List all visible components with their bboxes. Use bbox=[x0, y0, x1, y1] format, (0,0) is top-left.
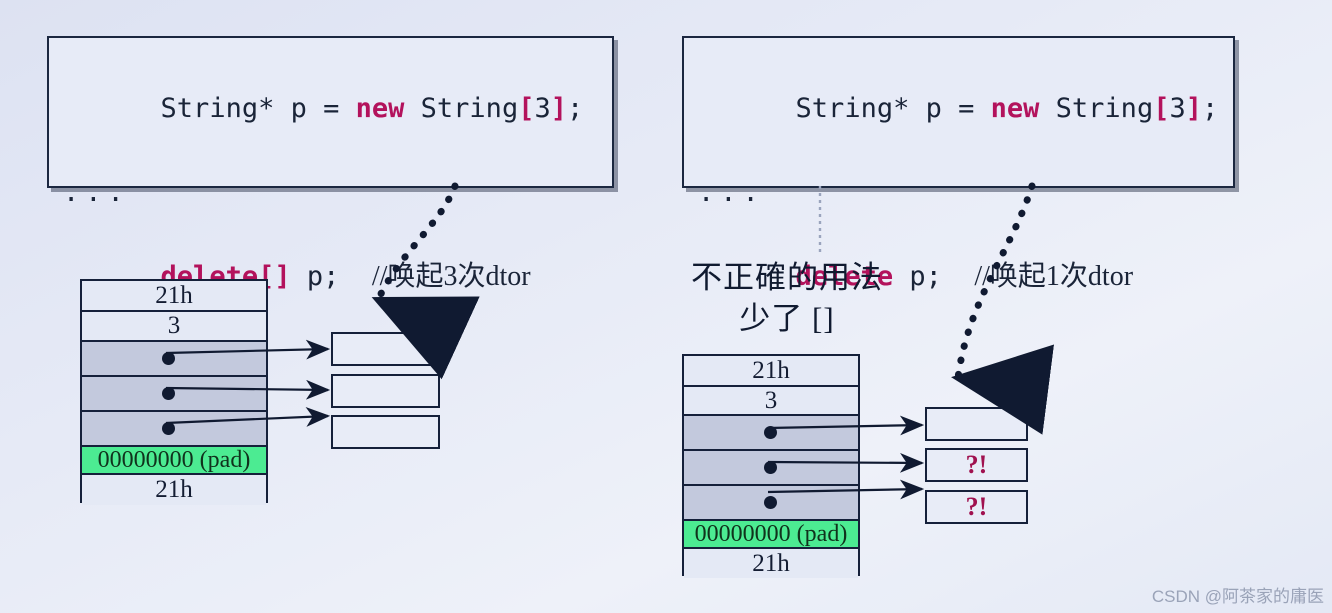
right-code-line-2: ... bbox=[698, 172, 1219, 214]
right-mem-row-object-1 bbox=[684, 416, 858, 451]
right-code-semicolon: ; bbox=[1202, 93, 1218, 124]
left-code-bracket-close: ] bbox=[551, 93, 567, 124]
right-code-decl: String* p = bbox=[796, 93, 991, 124]
right-code-type: String bbox=[1039, 93, 1153, 124]
left-pointer-dot-1 bbox=[162, 352, 175, 365]
left-element-box-3 bbox=[331, 415, 440, 449]
left-pointer-dot-2 bbox=[162, 387, 175, 400]
right-code-bracket-open: [ bbox=[1153, 93, 1169, 124]
right-mem-row-cookie-bottom: 21h bbox=[684, 549, 858, 578]
slide-canvas: String* p = new String[3]; ... delete[] … bbox=[0, 0, 1332, 613]
right-pointer-dot-2 bbox=[764, 461, 777, 474]
left-mem-row-object-3 bbox=[82, 412, 266, 447]
right-code-bracket-close: ] bbox=[1186, 93, 1202, 124]
left-mem-row-object-1 bbox=[82, 342, 266, 377]
left-code-type: String bbox=[404, 93, 518, 124]
right-mem-row-object-3 bbox=[684, 486, 858, 521]
left-mem-row-count: 3 bbox=[82, 312, 266, 342]
left-mem-row-object-2 bbox=[82, 377, 266, 412]
right-pointer-dot-3 bbox=[764, 496, 777, 509]
right-mem-row-cookie-top: 21h bbox=[684, 356, 858, 387]
left-mem-row-cookie-bottom: 21h bbox=[82, 475, 266, 505]
left-pointer-dot-3 bbox=[162, 422, 175, 435]
right-mem-row-object-2 bbox=[684, 451, 858, 486]
right-element-box-2: ?! bbox=[925, 448, 1028, 482]
csdn-watermark: CSDN @阿茶家的庸医 bbox=[1152, 582, 1324, 607]
right-pointer-dot-1 bbox=[764, 426, 777, 439]
right-mem-row-pad: 00000000 (pad) bbox=[684, 521, 858, 549]
right-memory-block: 21h 3 00000000 (pad) 21h bbox=[682, 354, 860, 576]
left-memory-block: 21h 3 00000000 (pad) 21h bbox=[80, 279, 268, 503]
right-code-line-1: String* p = new String[3]; bbox=[698, 46, 1219, 172]
left-mem-row-cookie-top: 21h bbox=[82, 281, 266, 312]
right-element-box-1 bbox=[925, 407, 1028, 441]
right-code-keyword-new: new bbox=[991, 93, 1040, 124]
left-code-decl: String* p = bbox=[161, 93, 356, 124]
right-code-array-size: 3 bbox=[1169, 93, 1185, 124]
left-code-comment: //唤起3次dtor bbox=[372, 261, 531, 292]
left-code-keyword-new: new bbox=[356, 93, 405, 124]
incorrect-usage-annotation: 不正確的用法 少了 [] bbox=[662, 258, 912, 340]
left-code-box: String* p = new String[3]; ... delete[] … bbox=[47, 36, 614, 188]
left-code-delete-operand: p; bbox=[291, 261, 372, 292]
right-mem-row-count: 3 bbox=[684, 387, 858, 416]
left-code-line-2: ... bbox=[63, 172, 598, 214]
left-element-box-2 bbox=[331, 374, 440, 408]
left-code-array-size: 3 bbox=[534, 93, 550, 124]
left-mem-row-pad: 00000000 (pad) bbox=[82, 447, 266, 475]
left-code-bracket-open: [ bbox=[518, 93, 534, 124]
right-code-comment: //唤起1次dtor bbox=[974, 261, 1133, 292]
left-code-line-1: String* p = new String[3]; bbox=[63, 46, 598, 172]
left-code-semicolon: ; bbox=[567, 93, 583, 124]
right-code-box: String* p = new String[3]; ... delete p;… bbox=[682, 36, 1235, 188]
left-element-box-1 bbox=[331, 332, 440, 366]
right-element-box-3: ?! bbox=[925, 490, 1028, 524]
